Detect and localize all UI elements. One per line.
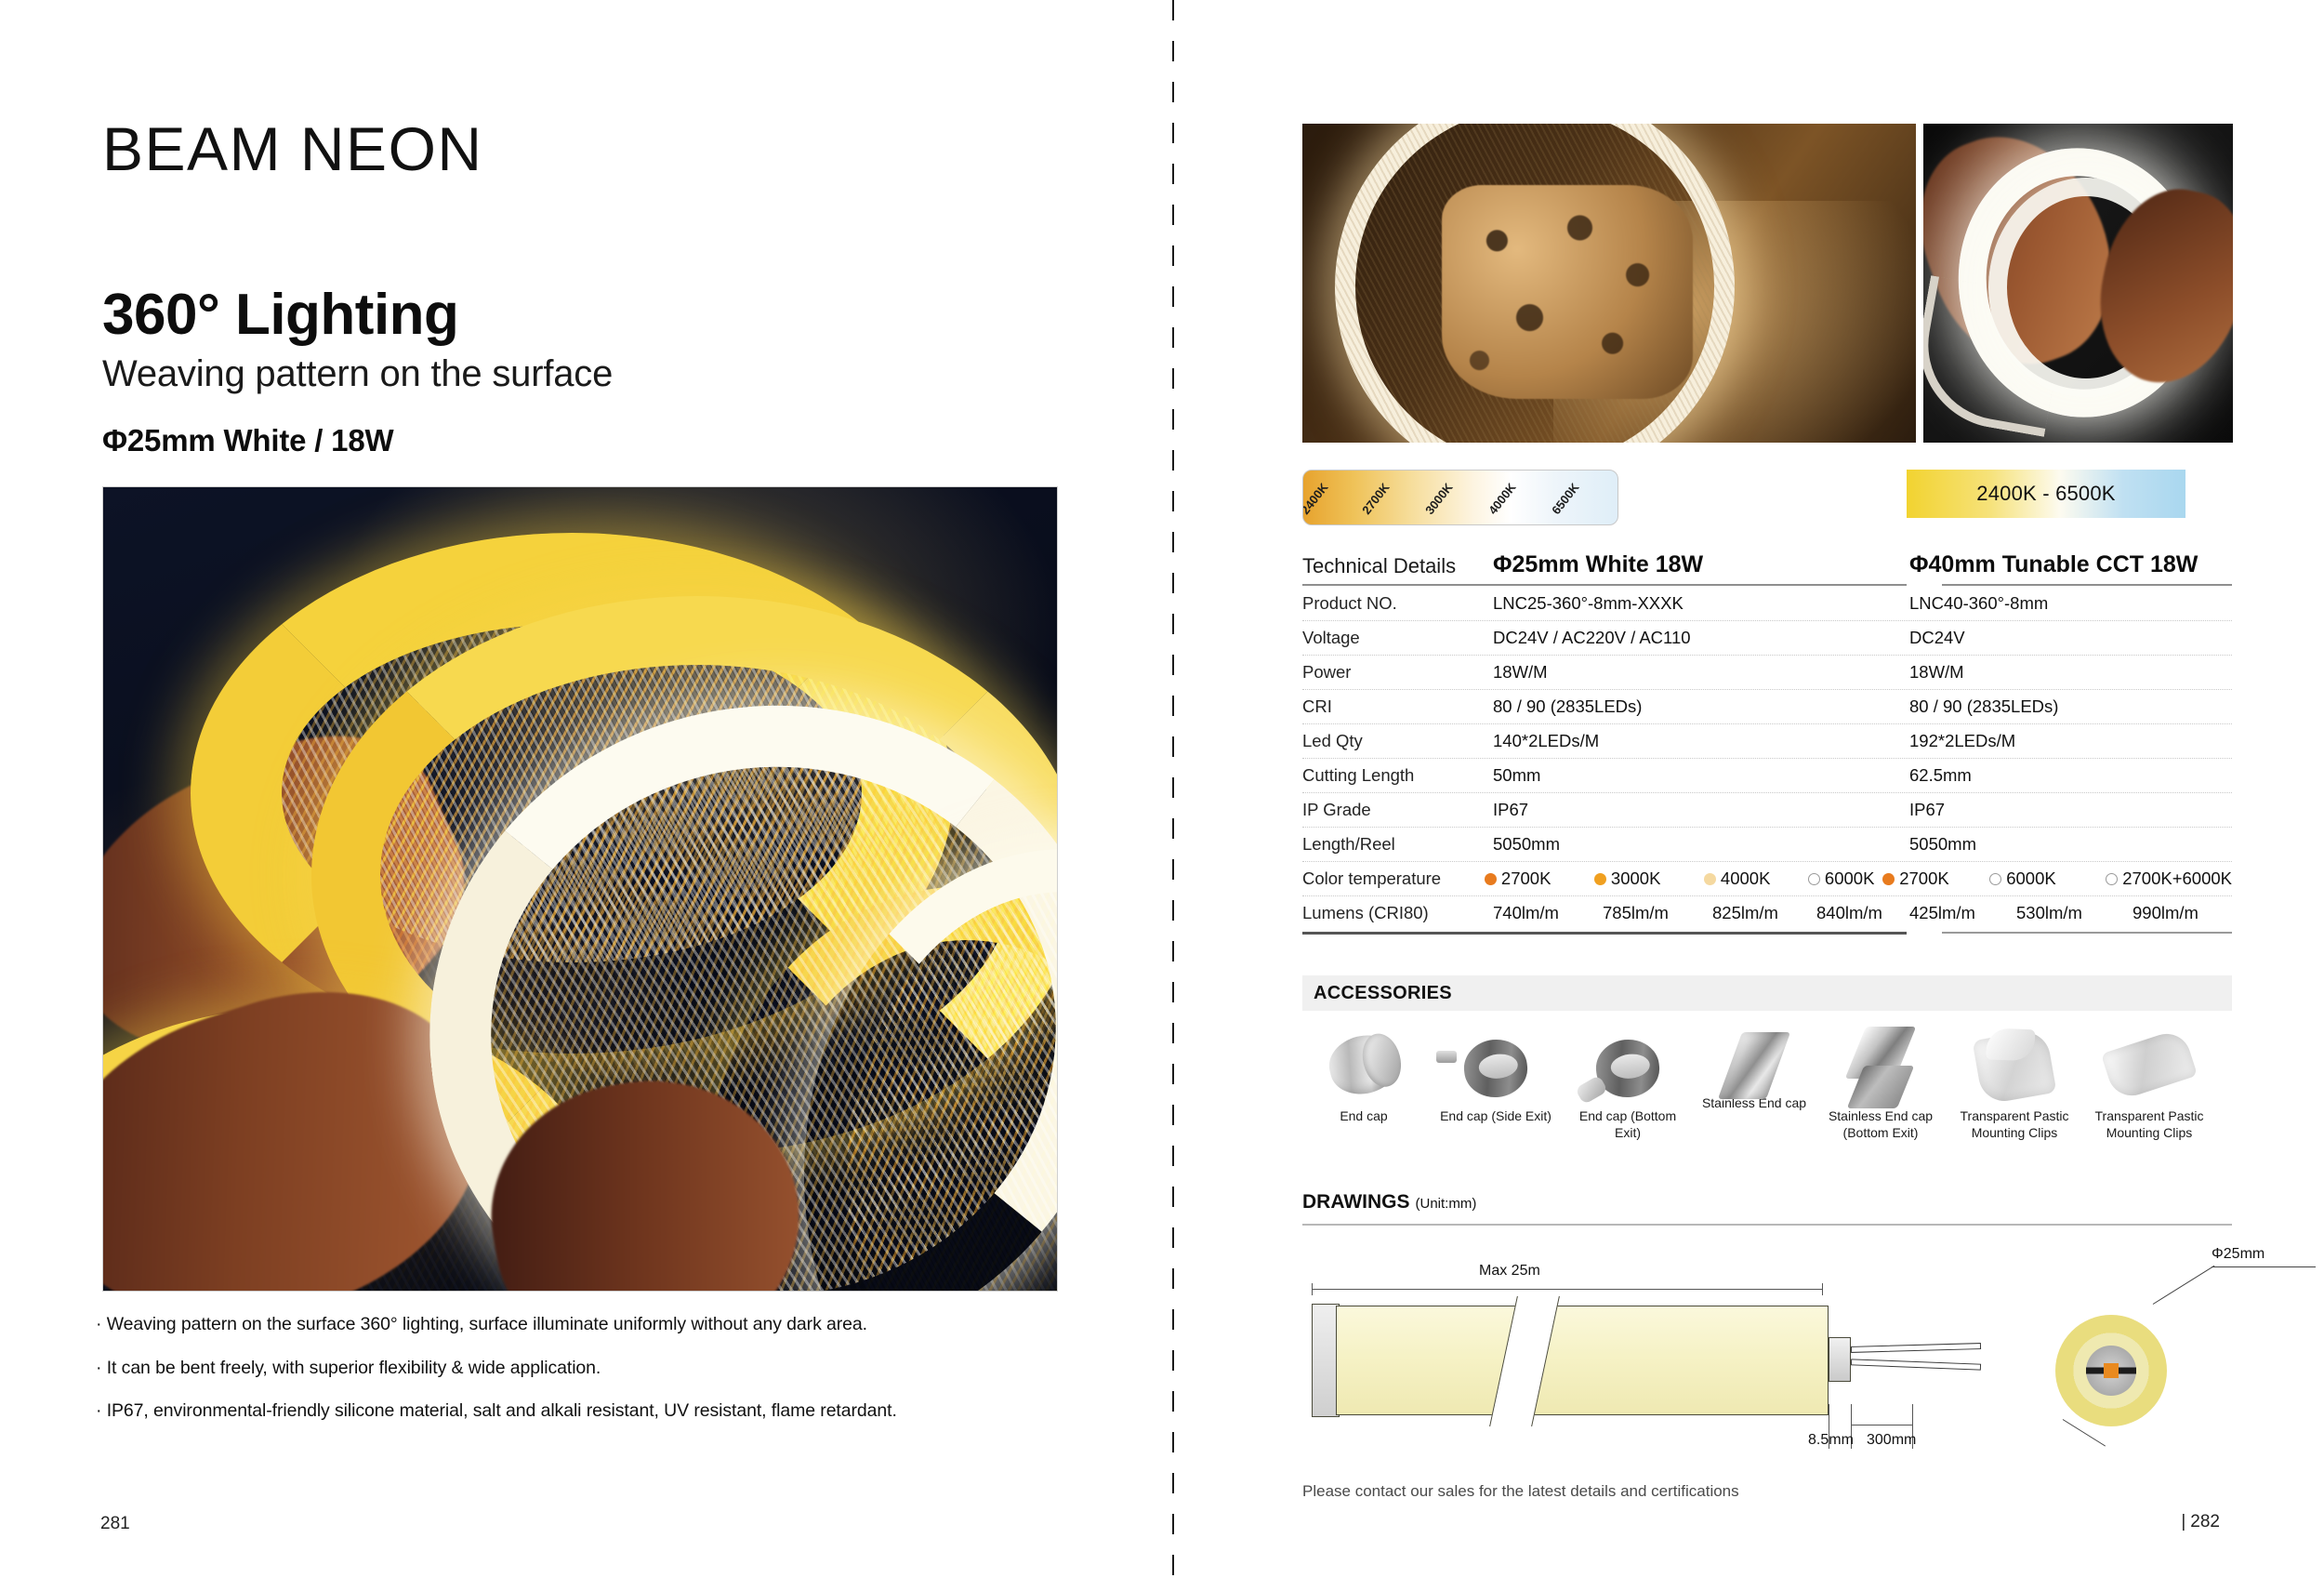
table-header-col1: Φ25mm White 18W <box>1493 551 1907 578</box>
stainless-end-cap-bottom-exit-icon <box>1819 1023 1942 1108</box>
cct-swatch-icon <box>1989 873 2001 885</box>
table-row: Cutting Length 50mm 62.5mm <box>1302 758 2232 792</box>
mounting-clip-rail-icon <box>2088 1023 2211 1108</box>
table-row: Length/Reel 5050mm 5050mm <box>1302 827 2232 861</box>
diameter-label: Φ25mm <box>2212 1246 2265 1263</box>
cct-option-label: 4000K <box>1721 869 1771 889</box>
end-cap-side-exit-icon <box>1434 1023 1557 1108</box>
cct-swatch-icon <box>1704 873 1716 885</box>
drawing-connector <box>1829 1337 1851 1382</box>
page-number-right: |282 <box>2181 1512 2220 1532</box>
length-dimension-label: Max 25m <box>1479 1263 1540 1280</box>
cct-swatch-icon <box>1882 873 1895 885</box>
cct-option-label: 2700K+6000K <box>2122 869 2232 889</box>
row-value-col2: 425lm/m 530lm/m 990lm/m <box>1907 903 2232 923</box>
warm-neon-ring-photo <box>1302 124 1916 443</box>
table-row: IP Grade IP67 IP67 <box>1302 792 2232 827</box>
accessory-caption: Transparent Pastic Mounting Clips <box>1953 1108 2076 1141</box>
drawing-wire <box>1851 1359 1981 1370</box>
accessory-item[interactable]: End cap <box>1302 1023 1425 1125</box>
end-cap-icon <box>1302 1023 1425 1108</box>
product-photo-row <box>1302 124 2233 443</box>
row-value-col1: 740lm/m 785lm/m 825lm/m 840lm/m <box>1493 903 1907 923</box>
accessory-caption: Transparent Pastic Mounting Clips <box>2088 1108 2211 1141</box>
lumens-value: 530lm/m <box>2016 903 2133 923</box>
wire-dimension-line <box>1851 1425 1912 1426</box>
cct-option[interactable]: 2700K+6000K <box>2106 869 2232 889</box>
row-label: Cutting Length <box>1302 765 1493 786</box>
row-label: Power <box>1302 662 1493 683</box>
cct-option-label: 2700K <box>1501 869 1552 889</box>
accessory-caption: End cap <box>1302 1108 1425 1125</box>
feature-bullet-list: · Weaving pattern on the surface 360° li… <box>96 1316 1081 1446</box>
page-headline: 360° Lighting <box>102 286 458 344</box>
row-label: Product NO. <box>1302 593 1493 614</box>
left-page: BEAM NEON 360° Lighting Weaving pattern … <box>0 0 1172 1578</box>
row-value-col1: 80 / 90 (2835LEDs) <box>1493 696 1907 717</box>
cross-section-led <box>2104 1363 2119 1378</box>
page-number-bar: | <box>2181 1512 2185 1532</box>
cct-option-label: 2700K <box>1899 869 1949 889</box>
power-cord <box>1923 275 2068 437</box>
table-row: Voltage DC24V / AC220V / AC110 DC24V <box>1302 620 2232 655</box>
row-value-col2: DC24V <box>1907 628 2232 648</box>
brand-title: BEAM NEON <box>102 118 483 179</box>
technical-details-table: Technical Details Φ25mm White 18W Φ40mm … <box>1302 532 2232 935</box>
cap-dimension-label: 8.5mm <box>1808 1432 1854 1449</box>
feature-bullet: · IP67, environmental-friendly silicone … <box>96 1402 1081 1421</box>
table-row: Power 18W/M 18W/M <box>1302 655 2232 689</box>
row-value-col2: 80 / 90 (2835LEDs) <box>1907 696 2232 717</box>
table-bottom-rule <box>1302 932 2232 935</box>
row-label: Voltage <box>1302 628 1493 648</box>
table-row-color-temperature: Color temperature 2700K 3000K 4000K <box>1302 861 2232 895</box>
lumens-value: 840lm/m <box>1816 903 1882 923</box>
drawings-header: DRAWINGS (Unit:mm) <box>1302 1191 1476 1213</box>
row-label: Length/Reel <box>1302 834 1493 855</box>
accessory-item[interactable]: End cap (Side Exit) <box>1434 1023 1557 1125</box>
catalog-spread: BEAM NEON 360° Lighting Weaving pattern … <box>0 0 2324 1578</box>
cct-option[interactable]: 4000K <box>1704 869 1808 889</box>
wire-dimension-label: 300mm <box>1867 1432 1916 1449</box>
technical-drawing: Max 25m 8.5mm 300mm Φ25mm <box>1302 1255 2241 1460</box>
cct-range-label: 2400K - 6500K <box>1976 482 2115 506</box>
row-value-col2: LNC40-360°-8mm <box>1907 593 2232 614</box>
cct-gradient-scale-left: 2400K 2700K 3000K 4000K 6500K <box>1302 470 1618 525</box>
drawings-title: DRAWINGS <box>1302 1191 1410 1213</box>
right-page: 2400K 2700K 3000K 4000K 6500K 2400K - 65… <box>1172 0 2324 1578</box>
accessory-item[interactable]: Stainless End cap <box>1693 1023 1816 1112</box>
drawing-cross-section <box>2055 1315 2167 1426</box>
lumens-value: 740lm/m <box>1493 903 1603 923</box>
row-value-col1: LNC25-360°-8mm-XXXK <box>1493 593 1907 614</box>
accessory-caption: Stainless End cap (Bottom Exit) <box>1819 1108 1942 1141</box>
cct-option[interactable]: 3000K <box>1594 869 1704 889</box>
cct-swatch-icon <box>1594 873 1606 885</box>
length-dimension-line <box>1312 1289 1823 1290</box>
accessory-caption: End cap (Side Exit) <box>1434 1108 1557 1125</box>
table-header-col2: Φ40mm Tunable CCT 18W <box>1907 551 2232 578</box>
honeycomb-object <box>1442 185 1693 399</box>
row-value-col1: IP67 <box>1493 800 1907 820</box>
drawings-rule <box>1302 1224 2232 1226</box>
feature-bullet: · It can be bent freely, with superior f… <box>96 1359 1081 1378</box>
accessories-title: ACCESSORIES <box>1302 983 1452 1004</box>
page-subheadline: Weaving pattern on the surface <box>102 352 613 395</box>
cct-swatch-icon <box>1808 873 1820 885</box>
cct-tick-label: 6500K <box>1549 481 1581 517</box>
cct-option[interactable]: 6000K <box>1989 869 2106 889</box>
cct-option-label: 3000K <box>1611 869 1661 889</box>
lumens-value: 990lm/m <box>2133 903 2199 923</box>
accessory-item[interactable]: Stainless End cap (Bottom Exit) <box>1819 1023 1942 1141</box>
hero-product-photo <box>102 486 1058 1292</box>
mounting-clip-icon <box>1953 1023 2076 1108</box>
accessory-item[interactable]: Transparent Pastic Mounting Clips <box>1953 1023 2076 1141</box>
drawings-unit: (Unit:mm) <box>1416 1196 1477 1212</box>
row-value-col2: 5050mm <box>1907 834 2232 855</box>
accessory-item[interactable]: End cap (Bottom Exit) <box>1566 1023 1689 1141</box>
lumens-value: 425lm/m <box>1909 903 2016 923</box>
table-row: Led Qty 140*2LEDs/M 192*2LEDs/M <box>1302 723 2232 758</box>
cct-tick-label: 2700K <box>1359 481 1392 517</box>
cct-option[interactable]: 6000K <box>1808 869 1875 889</box>
row-value-col2: 62.5mm <box>1907 765 2232 786</box>
page-number-value: 282 <box>2190 1512 2220 1532</box>
cct-option[interactable]: 2700K <box>1882 869 1989 889</box>
cct-tick-label: 4000K <box>1486 481 1518 517</box>
cct-gradient-scale-right: 2400K - 6500K <box>1907 470 2185 518</box>
drawing-wire <box>1851 1343 1981 1353</box>
row-value-col1: 50mm <box>1493 765 1907 786</box>
row-label: Color temperature <box>1302 869 1485 889</box>
row-value-col1: 140*2LEDs/M <box>1493 731 1907 751</box>
table-top-rule <box>1302 584 2232 586</box>
feature-bullet: · Weaving pattern on the surface 360° li… <box>96 1316 1081 1334</box>
row-value-col1: 2700K 3000K 4000K 6000K <box>1485 869 1880 889</box>
table-header-label: Technical Details <box>1302 554 1493 578</box>
row-value-col2: 192*2LEDs/M <box>1907 731 2232 751</box>
cct-tick-label: 2400K <box>1302 481 1331 517</box>
cct-option[interactable]: 2700K <box>1485 869 1594 889</box>
cct-swatch-icon <box>1485 873 1497 885</box>
table-row-lumens: Lumens (CRI80) 740lm/m 785lm/m 825lm/m 8… <box>1302 895 2232 930</box>
accessory-item[interactable]: Transparent Pastic Mounting Clips <box>2088 1023 2211 1141</box>
row-label: CRI <box>1302 696 1493 717</box>
cool-white-coil-photo <box>1923 124 2233 443</box>
drawing-tube-body <box>1336 1306 1829 1415</box>
accessory-caption: End cap (Bottom Exit) <box>1566 1108 1689 1141</box>
sales-note: Please contact our sales for the latest … <box>1302 1482 1739 1501</box>
table-row: Product NO. LNC25-360°-8mm-XXXK LNC40-36… <box>1302 586 2232 620</box>
lumens-value: 825lm/m <box>1712 903 1816 923</box>
row-value-col2: 2700K 6000K 2700K+6000K <box>1880 869 2232 889</box>
end-cap-bottom-exit-icon <box>1566 1023 1689 1108</box>
page-number-left: 281 <box>100 1514 130 1534</box>
accessories-header: ACCESSORIES <box>1302 975 2232 1011</box>
cct-tick-label: 3000K <box>1422 481 1455 517</box>
row-label: Led Qty <box>1302 731 1493 751</box>
row-value-col1: 18W/M <box>1493 662 1907 683</box>
table-row: CRI 80 / 90 (2835LEDs) 80 / 90 (2835LEDs… <box>1302 689 2232 723</box>
stainless-end-cap-icon <box>1693 1023 1816 1108</box>
product-spec-line: Φ25mm White / 18W <box>102 423 393 458</box>
row-value-col2: 18W/M <box>1907 662 2232 683</box>
row-value-col1: 5050mm <box>1493 834 1907 855</box>
lumens-value: 785lm/m <box>1603 903 1712 923</box>
table-header-row: Technical Details Φ25mm White 18W Φ40mm … <box>1302 532 2232 578</box>
cct-option-label: 6000K <box>2006 869 2056 889</box>
row-label: Lumens (CRI80) <box>1302 903 1493 923</box>
accessories-grid: End cap End cap (Side Exit) End cap (Bot… <box>1302 1023 2241 1162</box>
row-value-col1: DC24V / AC220V / AC110 <box>1493 628 1907 648</box>
diameter-leader-line <box>2153 1266 2215 1305</box>
cct-option-label: 6000K <box>1825 869 1875 889</box>
diameter-leader-line <box>2212 1266 2316 1267</box>
row-label: IP Grade <box>1302 800 1493 820</box>
cct-swatch-icon <box>2106 873 2118 885</box>
row-value-col2: IP67 <box>1907 800 2232 820</box>
